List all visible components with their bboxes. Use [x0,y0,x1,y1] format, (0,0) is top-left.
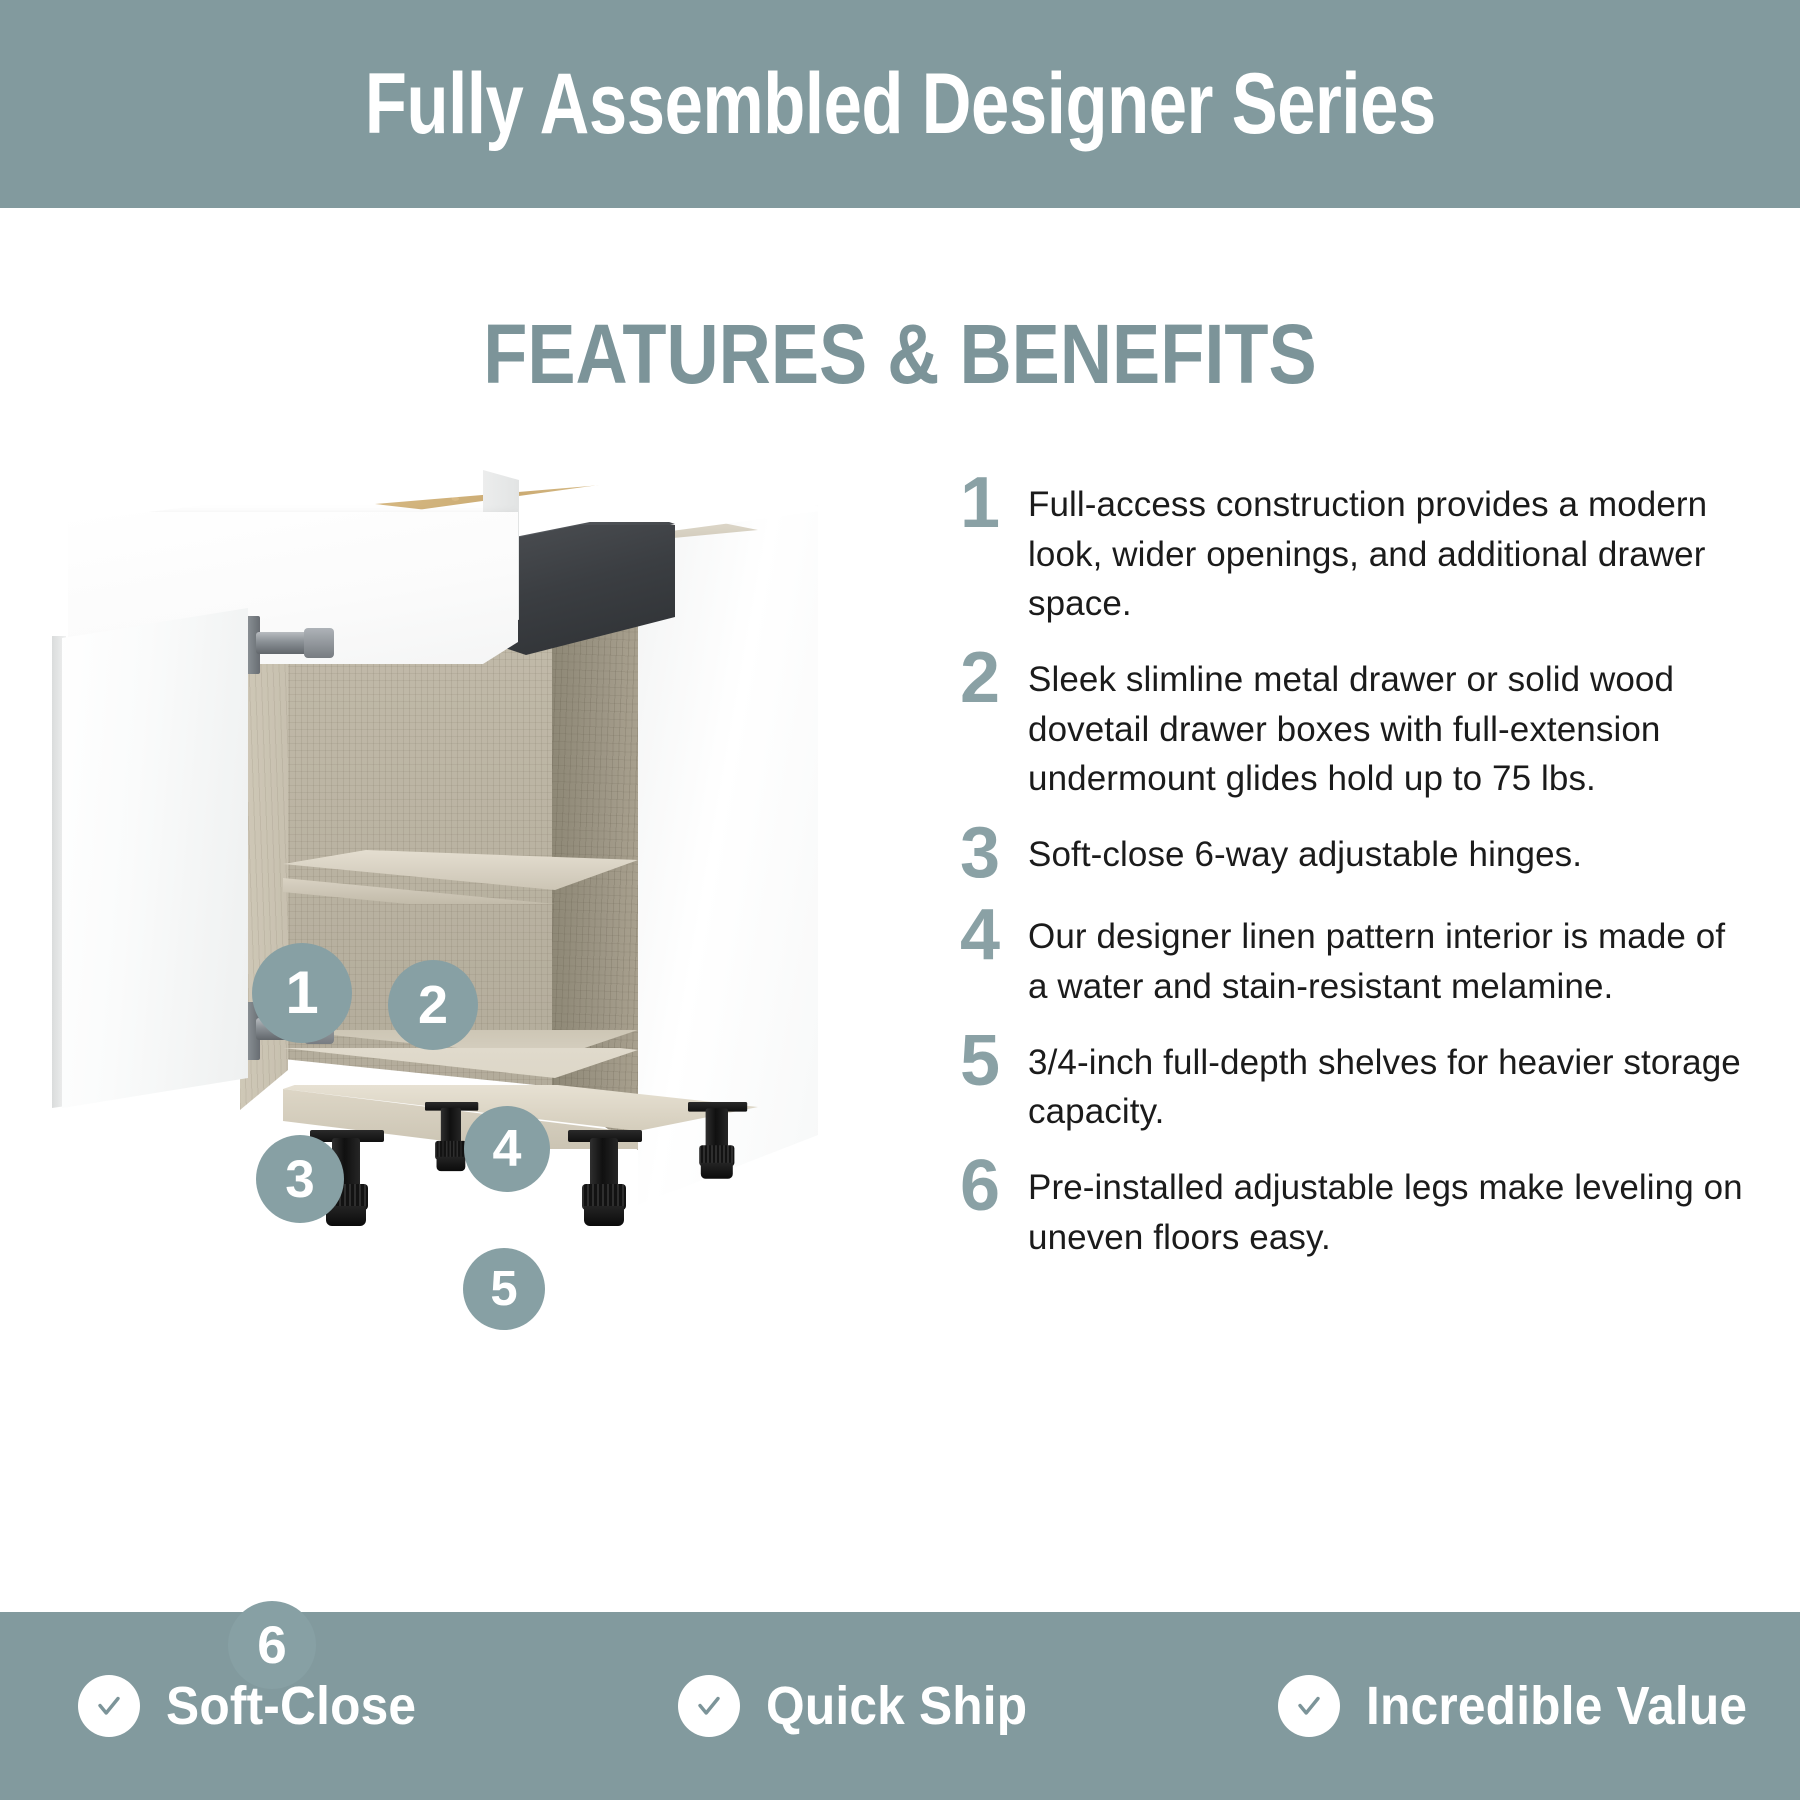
callout-badge-1: 1 [252,943,352,1043]
feature-description: Our designer linen pattern interior is m… [1028,902,1750,1011]
leg-foot [701,1163,733,1179]
feature-number: 4 [960,902,1028,968]
check-circle-icon [1278,1675,1340,1737]
callout-badge-label: 5 [490,1265,517,1314]
footer-badge-quick-ship: Quick Ship [600,1675,1200,1737]
callout-badge-2: 2 [388,960,478,1050]
leg-post [590,1138,618,1190]
feature-description: 3/4-inch full-depth shelves for heavier … [1028,1028,1750,1137]
callout-badge-label: 4 [493,1123,522,1175]
feature-description: Sleek slimline metal drawer or solid woo… [1028,645,1750,804]
callout-badge-label: 3 [285,1153,314,1206]
footer-badge-soft-close: Soft-Close [0,1675,600,1737]
footer-label: Quick Ship [766,1675,1027,1737]
feature-item-5: 5 3/4-inch full-depth shelves for heavie… [960,1028,1750,1137]
feature-number: 1 [960,470,1028,536]
check-circle-icon [78,1675,140,1737]
header-bar: Fully Assembled Designer Series [0,0,1800,208]
feature-item-6: 6 Pre-installed adjustable legs make lev… [960,1153,1750,1262]
section-heading: FEATURES & BENEFITS [126,310,1674,398]
feature-item-4: 4 Our designer linen pattern interior is… [960,902,1750,1011]
callout-badge-4: 4 [464,1106,550,1192]
check-circle-icon [678,1675,740,1737]
features-list: 1 Full-access construction provides a mo… [960,470,1750,1278]
page-title: Fully Assembled Designer Series [365,61,1436,147]
feature-description: Pre-installed adjustable legs make level… [1028,1153,1750,1262]
soft-close-hinge-upper [240,616,336,674]
cabinet-door [58,608,248,1108]
feature-number: 2 [960,645,1028,711]
feature-item-3: 3 Soft-close 6-way adjustable hinges. [960,820,1750,886]
leg-foot [584,1206,624,1226]
feature-number: 5 [960,1028,1028,1094]
callout-badge-6: 6 [228,1601,316,1689]
feature-description: Soft-close 6-way adjustable hinges. [1028,820,1750,880]
feature-item-2: 2 Sleek slimline metal drawer or solid w… [960,645,1750,804]
callout-badge-label: 1 [285,963,318,1023]
feature-number: 6 [960,1153,1028,1219]
feature-number: 3 [960,820,1028,886]
feature-item-1: 1 Full-access construction provides a mo… [960,470,1750,629]
leg-foot [437,1157,466,1171]
footer-label: Incredible Value [1366,1675,1747,1737]
feature-description: Full-access construction provides a mode… [1028,470,1750,629]
product-image: 1 2 3 4 5 6 [40,430,920,1480]
callout-badge-3: 3 [256,1135,344,1223]
callout-badge-5: 5 [463,1248,545,1330]
leg-post [706,1108,728,1150]
footer-badge-incredible-value: Incredible Value [1200,1675,1800,1737]
hinge-cup [304,628,334,658]
cabinet-render: 1 2 3 4 5 6 [40,430,920,1480]
leg-post [441,1108,461,1145]
callout-badge-label: 2 [418,978,448,1032]
callout-badge-label: 6 [257,1619,286,1672]
